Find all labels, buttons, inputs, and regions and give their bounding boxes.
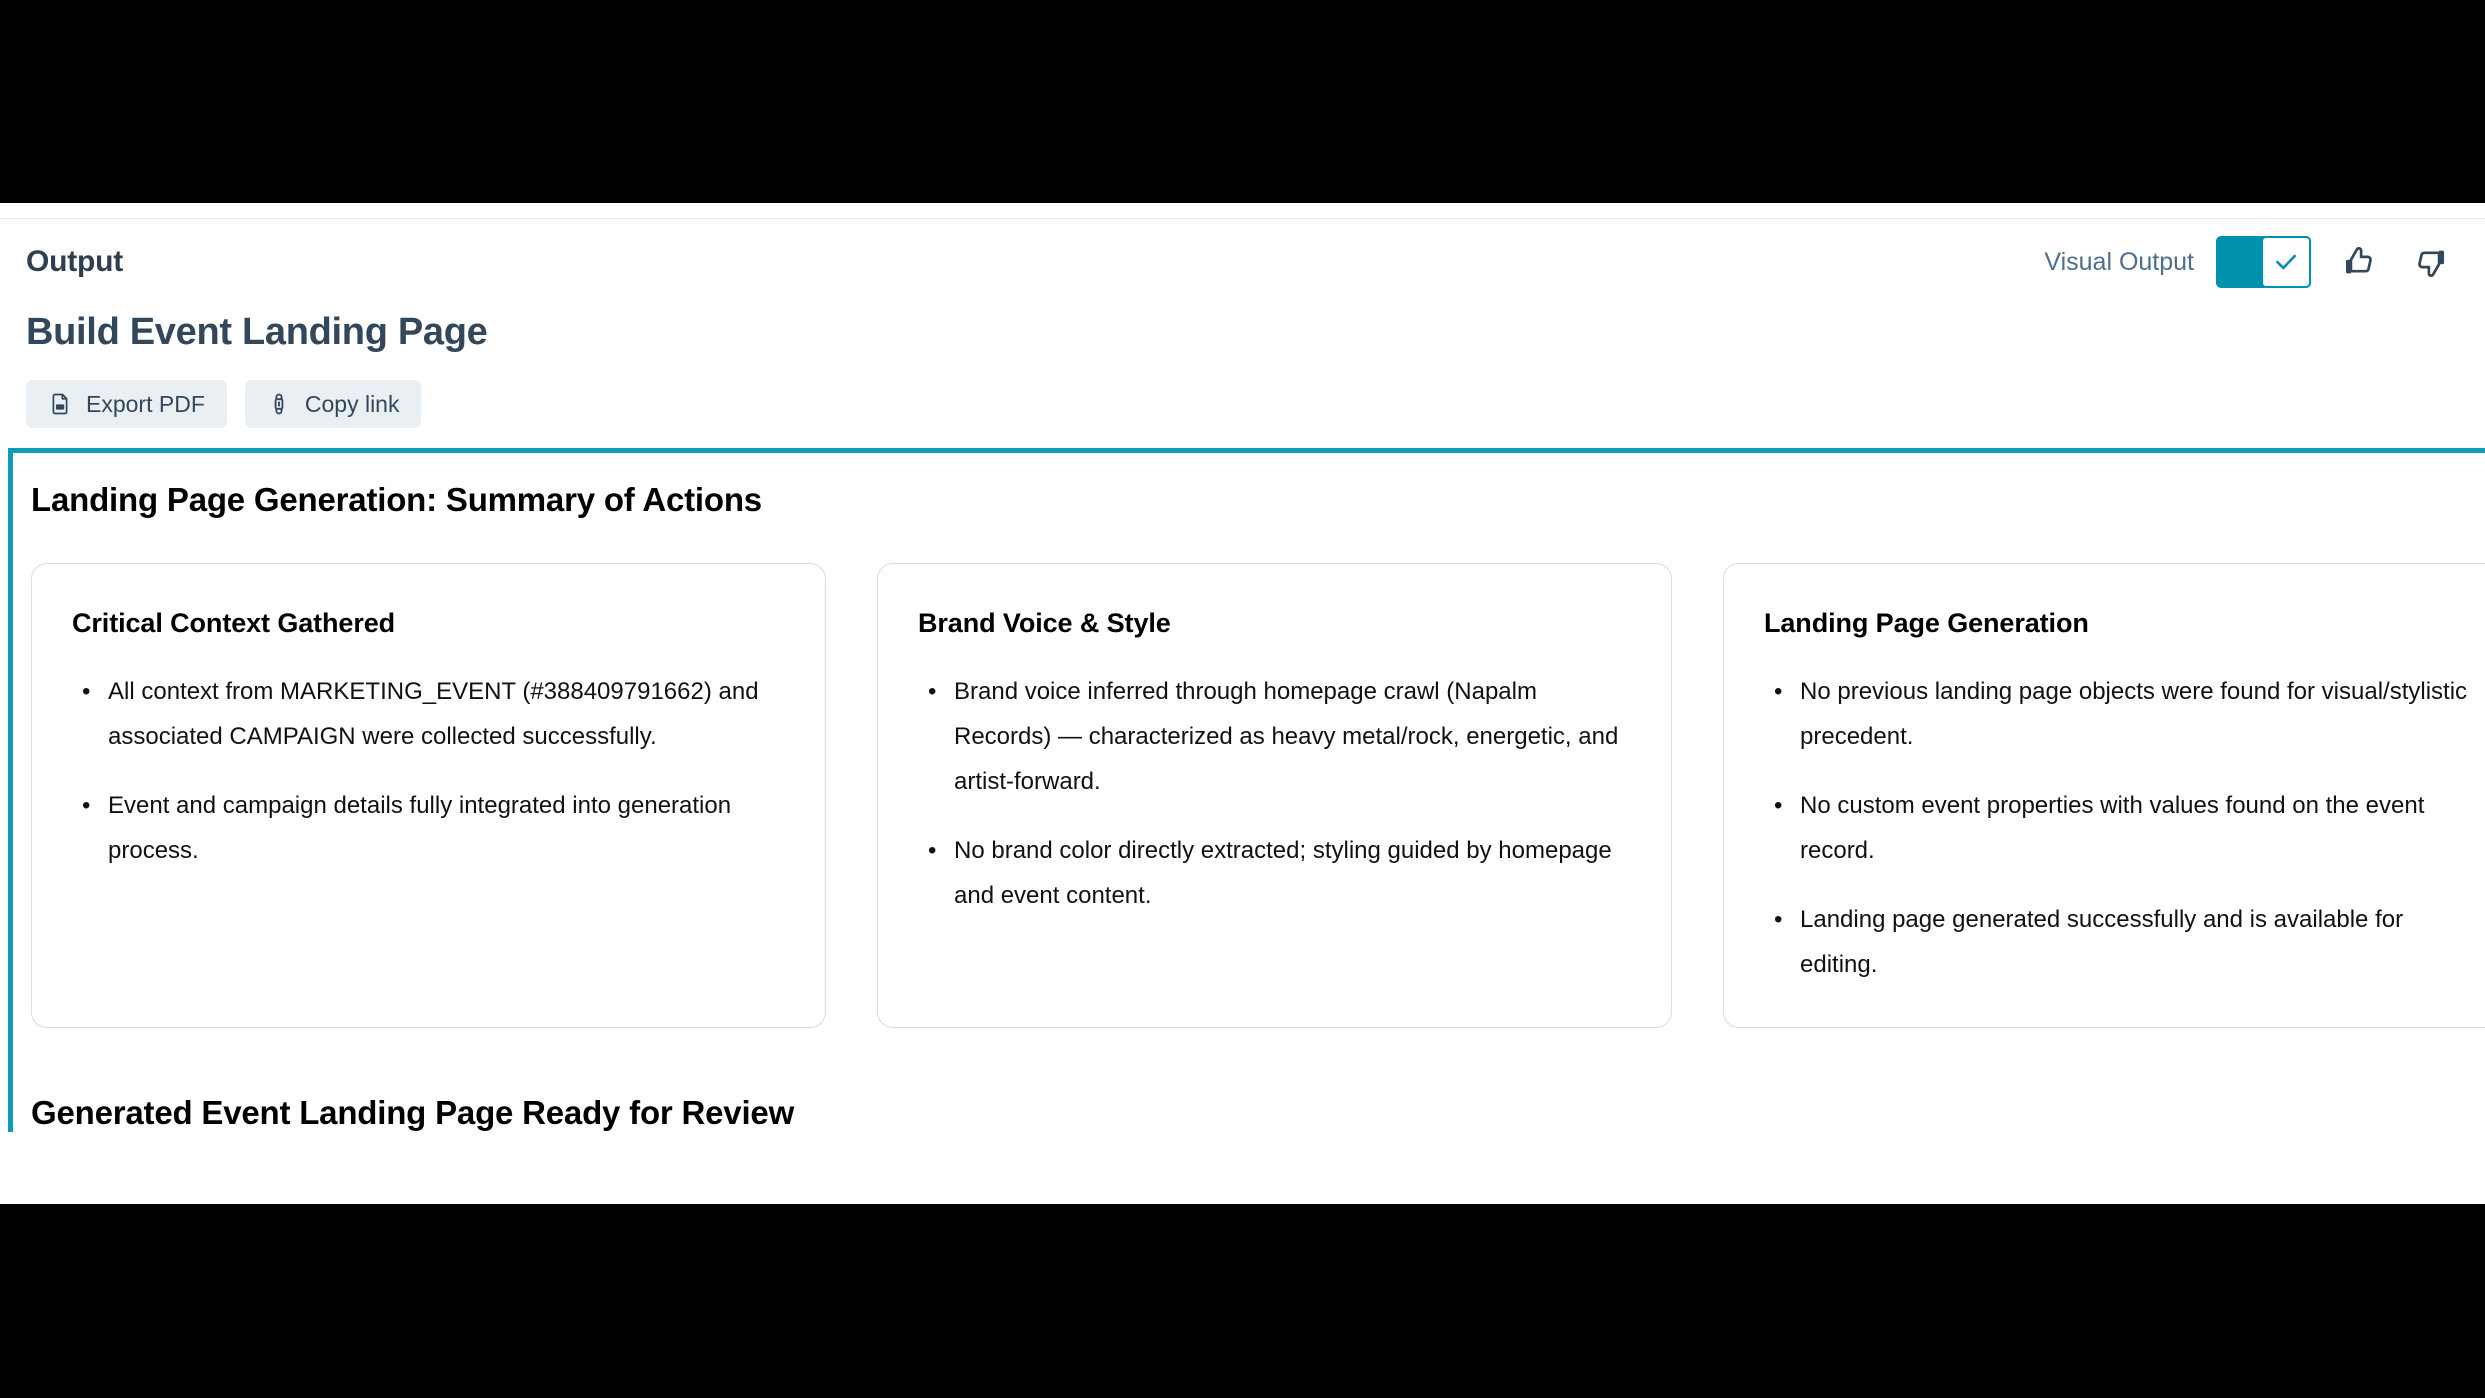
bottom-heading: Generated Event Landing Page Ready for R… [31, 1094, 2485, 1132]
card-bullet-list: Brand voice inferred through homepage cr… [918, 669, 1631, 918]
list-item: No previous landing page objects were fo… [1764, 669, 2477, 759]
link-icon [267, 392, 291, 416]
header-controls: Visual Output [2044, 235, 2459, 289]
list-item: No custom event properties with values f… [1764, 783, 2477, 873]
letterbox-bottom [0, 1204, 2485, 1398]
card-landing-page-generation: Landing Page Generation No previous land… [1723, 563, 2485, 1028]
list-item: Brand voice inferred through homepage cr… [918, 669, 1631, 804]
list-item: No brand color directly extracted; styli… [918, 828, 1631, 918]
toggle-knob [2261, 236, 2311, 288]
top-divider [0, 203, 2485, 219]
thumbs-down-icon [2415, 245, 2449, 279]
thumbs-down-button[interactable] [2405, 235, 2459, 289]
card-bullet-list: No previous landing page objects were fo… [1764, 669, 2477, 987]
list-item: All context from MARKETING_EVENT (#38840… [72, 669, 785, 759]
page-title: Build Event Landing Page [26, 311, 2459, 354]
card-title: Landing Page Generation [1764, 608, 2477, 639]
visual-output-toggle[interactable] [2216, 236, 2311, 288]
check-icon [2273, 249, 2299, 275]
card-brand-voice: Brand Voice & Style Brand voice inferred… [877, 563, 1672, 1028]
visual-output-panel: Landing Page Generation: Summary of Acti… [8, 448, 2485, 1132]
card-critical-context: Critical Context Gathered All context fr… [31, 563, 826, 1028]
output-header-row: Output Visual Output [26, 219, 2459, 305]
app-viewport: Output Visual Output [0, 203, 2485, 1204]
copy-link-label: Copy link [305, 391, 400, 418]
list-item: Landing page generated successfully and … [1764, 897, 2477, 987]
screen-root: Output Visual Output [0, 0, 2485, 1398]
card-title: Brand Voice & Style [918, 608, 1631, 639]
pdf-file-icon [48, 392, 72, 416]
card-title: Critical Context Gathered [72, 608, 785, 639]
thumbs-up-icon [2341, 245, 2375, 279]
thumbs-up-button[interactable] [2331, 235, 2385, 289]
summary-cards-row: Critical Context Gathered All context fr… [23, 563, 2485, 1028]
export-pdf-label: Export PDF [86, 391, 205, 418]
copy-link-button[interactable]: Copy link [245, 380, 422, 428]
output-label: Output [26, 245, 123, 279]
visual-output-label: Visual Output [2044, 248, 2194, 277]
export-pdf-button[interactable]: Export PDF [26, 380, 227, 428]
action-toolbar: Export PDF Copy link [26, 380, 2459, 448]
header-zone: Output Visual Output [0, 219, 2485, 448]
card-bullet-list: All context from MARKETING_EVENT (#38840… [72, 669, 785, 873]
letterbox-top [0, 0, 2485, 203]
section-heading: Landing Page Generation: Summary of Acti… [31, 481, 2485, 519]
list-item: Event and campaign details fully integra… [72, 783, 785, 873]
